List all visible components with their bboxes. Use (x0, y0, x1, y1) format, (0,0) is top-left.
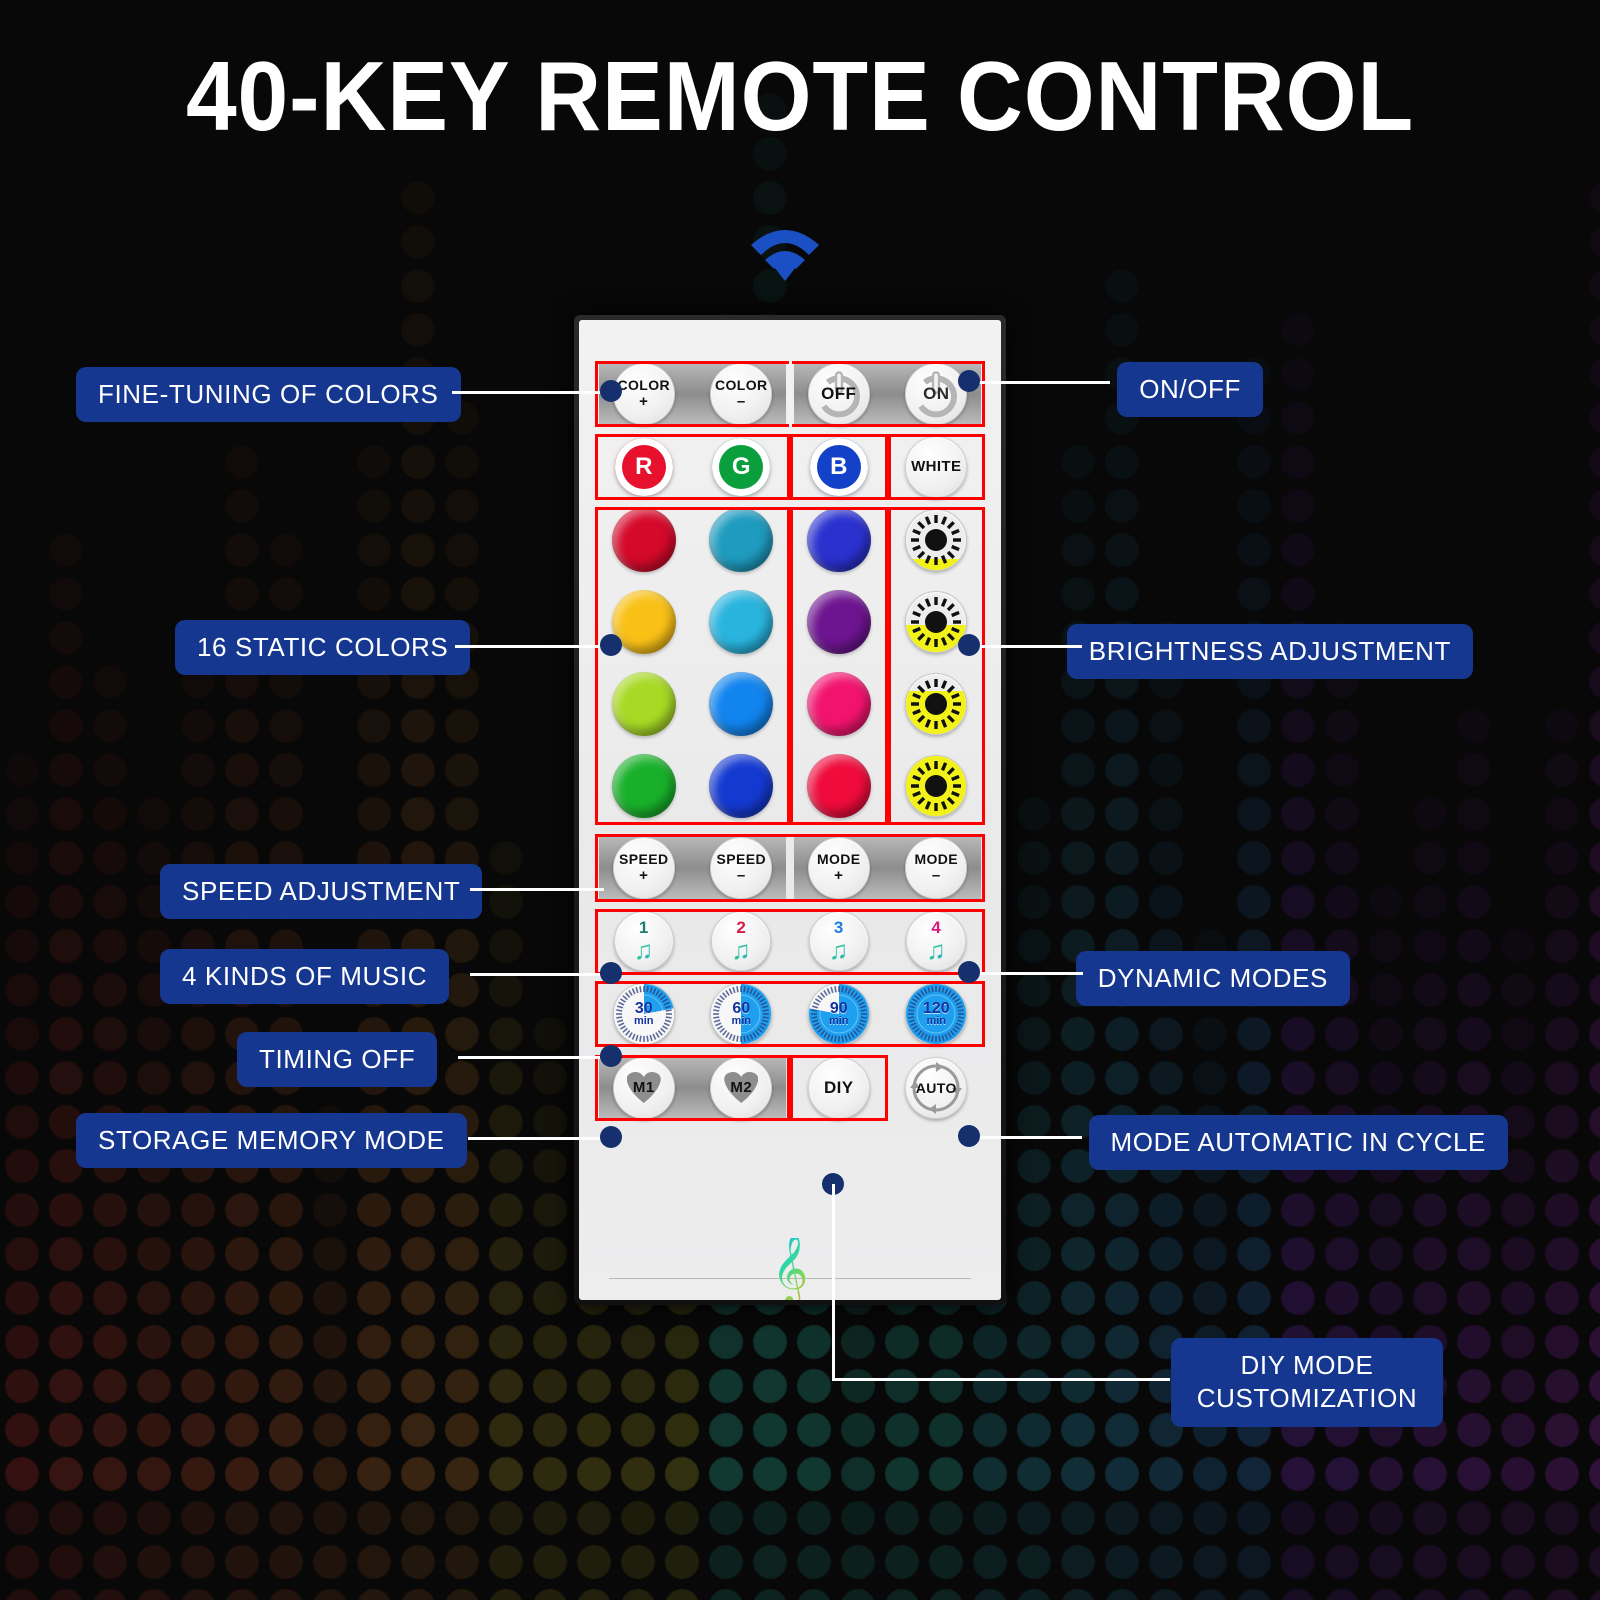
annotation-label-dynamic-modes[interactable]: DYNAMIC MODES (1076, 951, 1350, 1006)
key-unit: min (923, 1016, 950, 1026)
key-brightness-3[interactable] (905, 673, 967, 735)
key-label: 90min (829, 1002, 849, 1027)
annotation-label-diy-mode-customization[interactable]: DIY MODE CUSTOMIZATION (1171, 1338, 1443, 1427)
annotation-text: DYNAMIC MODES (1098, 963, 1328, 993)
connector-dot (600, 1045, 622, 1067)
connector-line (470, 888, 604, 891)
brightness-sun-icon (906, 592, 966, 652)
connector-line (978, 1136, 1082, 1139)
key-label: ON (923, 385, 949, 403)
key-label: 30min (634, 1002, 654, 1027)
annotation-text: MODE AUTOMATIC IN CYCLE (1111, 1127, 1486, 1157)
connector-line (455, 645, 600, 648)
connector-dot (958, 1125, 980, 1147)
remote-faceplate: COLOR+COLOR–OFFONRGBWHITESPEED+SPEED–MOD… (579, 320, 1001, 1300)
connector-line (458, 1056, 600, 1059)
annotation-label-storage-memory-mode[interactable]: STORAGE MEMORY MODE (76, 1113, 467, 1168)
connector-dot (958, 961, 980, 983)
annotation-text: TIMING OFF (259, 1044, 415, 1074)
connector-dot (600, 962, 622, 984)
page-title: 40-KEY REMOTE CONTROL (56, 40, 1544, 153)
annotation-text: DIY MODE CUSTOMIZATION (1197, 1350, 1418, 1413)
annotation-text: FINE-TUNING OF COLORS (98, 379, 439, 409)
zone-rgb-blue (790, 434, 888, 500)
zone-diy (790, 1055, 888, 1121)
connector-dot (600, 1126, 622, 1148)
key-timer-30[interactable]: 30min (613, 983, 675, 1045)
connector-line (978, 645, 1082, 648)
key-label: M2 (730, 1080, 752, 1096)
zone-rgb-left (595, 434, 790, 500)
brightness-sun-icon (906, 674, 966, 734)
zone-white (888, 434, 986, 500)
key-unit: min (829, 1016, 849, 1026)
annotation-text: 16 STATIC COLORS (197, 632, 448, 662)
wifi-icon (735, 205, 835, 285)
key-timer-120[interactable]: 120min (905, 983, 967, 1045)
connector-line (978, 972, 1083, 975)
annotation-text: BRIGHTNESS ADJUSTMENT (1089, 636, 1451, 666)
connector-line (470, 973, 600, 976)
annotation-text: STORAGE MEMORY MODE (98, 1125, 445, 1155)
annotation-text: ON/OFF (1139, 374, 1241, 404)
key-label: M1 (633, 1080, 655, 1096)
brightness-sun-icon (906, 510, 966, 570)
zone-static-colors-right (790, 507, 888, 825)
key-label: 120min (923, 1002, 950, 1027)
connector-line (468, 1137, 600, 1140)
annotation-text: 4 KINDS OF MUSIC (182, 961, 427, 991)
connector-line (452, 391, 600, 394)
key-auto[interactable]: AUTO (905, 1057, 967, 1119)
zone-divider (789, 361, 792, 427)
key-brightness-2[interactable] (905, 591, 967, 653)
treble-clef-icon: 𝄞 (772, 1238, 809, 1300)
annotation-label-fine-tuning-of-colors[interactable]: FINE-TUNING OF COLORS (76, 367, 461, 422)
key-label: 60min (731, 1002, 751, 1027)
key-unit: min (731, 1016, 751, 1026)
annotation-label-mode-automatic-in-cycle[interactable]: MODE AUTOMATIC IN CYCLE (1089, 1115, 1508, 1170)
annotation-label-4-kinds-of-music[interactable]: 4 KINDS OF MUSIC (160, 949, 449, 1004)
key-unit: min (634, 1016, 654, 1026)
brightness-sun-icon (906, 756, 966, 816)
key-label: AUTO (916, 1081, 957, 1096)
annotation-label-timing-off[interactable]: TIMING OFF (237, 1032, 437, 1087)
zone-music-modes (595, 909, 985, 975)
key-brightness-4[interactable] (905, 755, 967, 817)
zone-speed-mode (595, 834, 985, 902)
connector-dot (958, 370, 980, 392)
key-label: OFF (821, 385, 856, 403)
annotation-label-16-static-colors[interactable]: 16 STATIC COLORS (175, 620, 470, 675)
key-timer-60[interactable]: 60min (710, 983, 772, 1045)
zone-static-colors-left (595, 507, 790, 825)
connector-line (832, 1378, 1170, 1381)
annotation-label-on-off[interactable]: ON/OFF (1117, 362, 1263, 417)
connector-dot (600, 634, 622, 656)
annotation-text: SPEED ADJUSTMENT (182, 876, 460, 906)
remote-control-device: COLOR+COLOR–OFFONRGBWHITESPEED+SPEED–MOD… (574, 315, 1006, 1305)
connector-line (832, 1184, 835, 1378)
annotation-label-speed-adjustment[interactable]: SPEED ADJUSTMENT (160, 864, 482, 919)
annotation-label-brightness-adjustment[interactable]: BRIGHTNESS ADJUSTMENT (1067, 624, 1473, 679)
connector-dot (600, 380, 622, 402)
zone-storage-memory (595, 1055, 790, 1121)
key-timer-90[interactable]: 90min (808, 983, 870, 1045)
key-brightness-1[interactable] (905, 509, 967, 571)
connector-line (978, 381, 1110, 384)
